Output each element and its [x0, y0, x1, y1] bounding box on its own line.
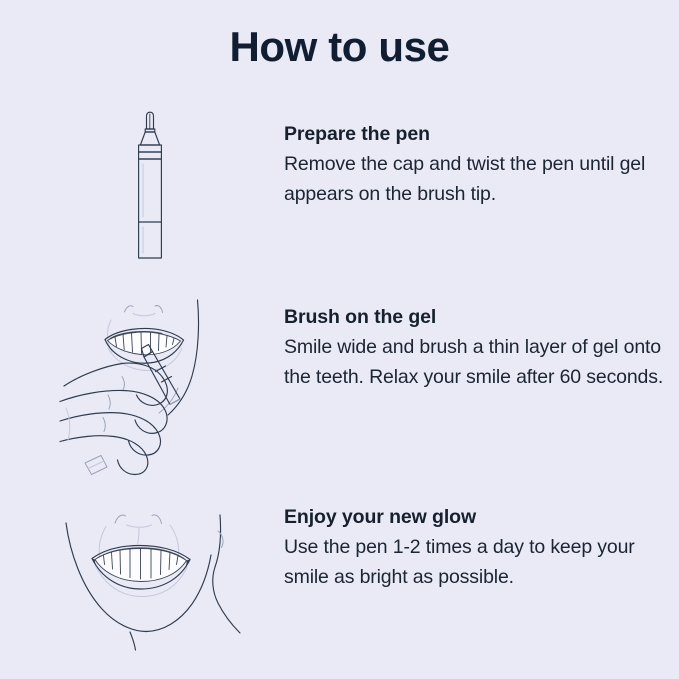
step-3: Enjoy your new glow Use the pen 1-2 time… [60, 495, 660, 675]
step-3-illustration [60, 495, 278, 675]
step-1-illustration [60, 110, 278, 290]
step-2-illustration [60, 300, 278, 480]
step-3-heading: Enjoy your new glow [284, 504, 660, 531]
how-to-use-infographic: How to use [0, 0, 679, 679]
step-2-body: Smile wide and brush a thin layer of gel… [284, 332, 674, 392]
smiling-face-icon [60, 495, 278, 670]
step-1-text: Prepare the pen Remove the cap and twist… [284, 121, 660, 209]
step-2-text: Brush on the gel Smile wide and brush a … [284, 304, 674, 392]
step-1: Prepare the pen Remove the cap and twist… [60, 110, 660, 290]
step-1-body: Remove the cap and twist the pen until g… [284, 149, 660, 209]
step-2: Brush on the gel Smile wide and brush a … [60, 300, 660, 480]
step-3-text: Enjoy your new glow Use the pen 1-2 time… [284, 504, 660, 592]
step-3-body: Use the pen 1-2 times a day to keep your… [284, 532, 660, 592]
whitening-pen-icon [60, 110, 278, 290]
hand-brushing-teeth-icon [60, 300, 278, 485]
step-2-heading: Brush on the gel [284, 304, 674, 331]
page-title: How to use [0, 21, 679, 73]
step-1-heading: Prepare the pen [284, 121, 660, 148]
